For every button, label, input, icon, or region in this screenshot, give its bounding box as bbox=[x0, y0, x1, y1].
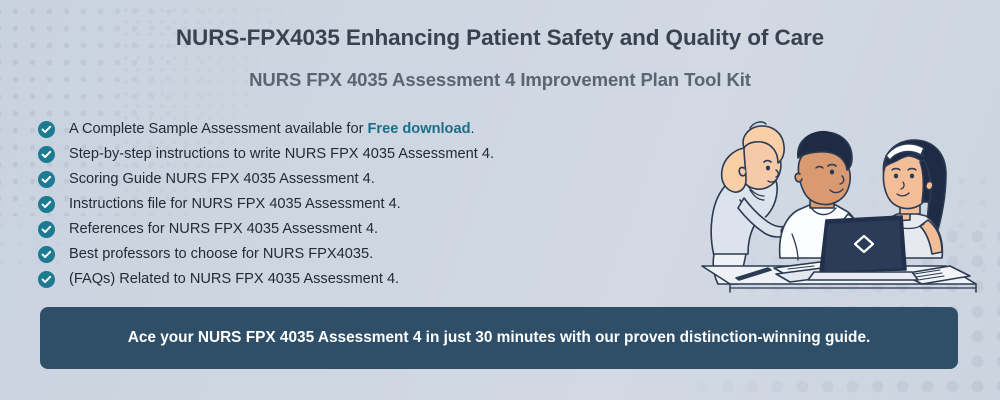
list-item-label: Scoring Guide NURS FPX 4035 Assessment 4… bbox=[69, 172, 375, 187]
check-circle-icon bbox=[38, 121, 55, 138]
list-item-label: References for NURS FPX 4035 Assessment … bbox=[69, 222, 378, 237]
list-item-label: A Complete Sample Assessment available f… bbox=[69, 122, 475, 137]
list-item-text-tail: . bbox=[471, 121, 475, 137]
list-item-label: (FAQs) Related to NURS FPX 4035 Assessme… bbox=[69, 272, 399, 287]
list-item: Step-by-step instructions to write NURS … bbox=[38, 142, 698, 167]
feature-checklist: A Complete Sample Assessment available f… bbox=[38, 117, 698, 292]
cta-text: Ace your NURS FPX 4035 Assessment 4 in j… bbox=[128, 327, 871, 349]
cta-banner[interactable]: Ace your NURS FPX 4035 Assessment 4 in j… bbox=[40, 307, 958, 369]
list-item: Instructions file for NURS FPX 4035 Asse… bbox=[38, 192, 698, 217]
free-download-link[interactable]: Free download bbox=[368, 121, 471, 137]
check-circle-icon bbox=[38, 196, 55, 213]
list-item-text: A Complete Sample Assessment available f… bbox=[69, 121, 368, 137]
list-item-label: Instructions file for NURS FPX 4035 Asse… bbox=[69, 197, 401, 212]
promo-banner-root: NURS-FPX4035 Enhancing Patient Safety an… bbox=[0, 0, 1000, 400]
check-circle-icon bbox=[38, 146, 55, 163]
check-circle-icon bbox=[38, 246, 55, 263]
check-circle-icon bbox=[38, 221, 55, 238]
list-item-label: Step-by-step instructions to write NURS … bbox=[69, 147, 494, 162]
list-item: References for NURS FPX 4035 Assessment … bbox=[38, 217, 698, 242]
page-title: NURS-FPX4035 Enhancing Patient Safety an… bbox=[0, 24, 1000, 51]
check-circle-icon bbox=[38, 171, 55, 188]
header-block: NURS-FPX4035 Enhancing Patient Safety an… bbox=[0, 24, 1000, 91]
list-item-label: Best professors to choose for NURS FPX40… bbox=[69, 247, 373, 262]
list-item: A Complete Sample Assessment available f… bbox=[38, 117, 698, 142]
list-item: Scoring Guide NURS FPX 4035 Assessment 4… bbox=[38, 167, 698, 192]
three-students-at-laptop-illustration bbox=[688, 108, 988, 298]
page-subtitle: NURS FPX 4035 Assessment 4 Improvement P… bbox=[0, 69, 1000, 91]
list-item: Best professors to choose for NURS FPX40… bbox=[38, 242, 698, 267]
list-item: (FAQs) Related to NURS FPX 4035 Assessme… bbox=[38, 267, 698, 292]
check-circle-icon bbox=[38, 271, 55, 288]
